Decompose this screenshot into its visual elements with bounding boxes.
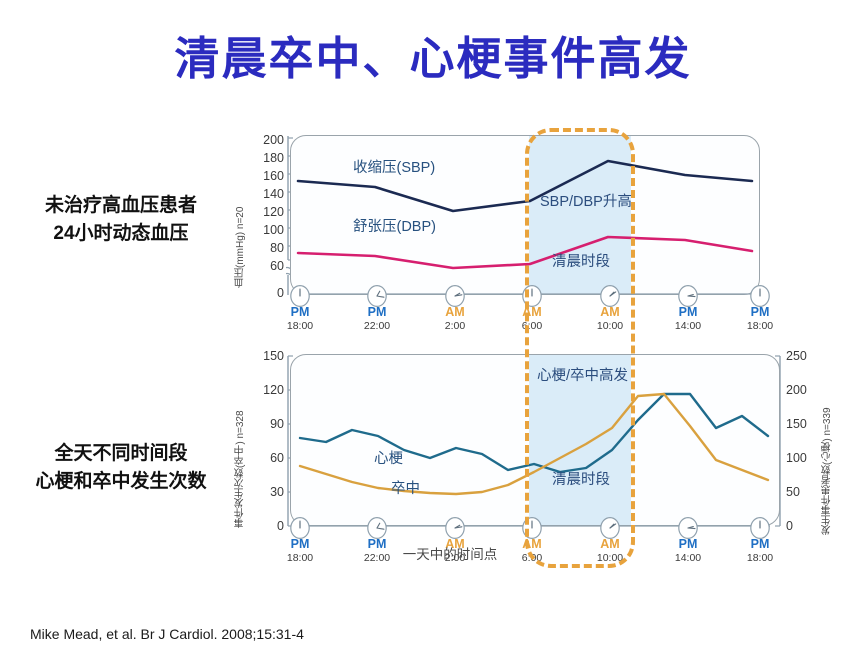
chart-morning-event-counts: 事件发生次数(卒中) n=328 发生事件患者数(心梗) n=339 150 1… <box>0 0 866 600</box>
citation-text: Mike Mead, et al. Br J Cardiol. 2008;15:… <box>30 626 304 642</box>
chart2-series-label-mi: 心梗 <box>374 447 403 468</box>
chart2-annotation-morning-period: 清晨时段 <box>552 468 610 489</box>
xtick-ampm: AM <box>580 538 640 552</box>
xtick-ampm: PM <box>658 538 718 552</box>
chart2-ytick-right-100: 100 <box>786 452 820 465</box>
chart2-ytick-left-150: 150 <box>250 350 284 363</box>
chart2-ytick-left-0: 0 <box>250 520 284 533</box>
chart2-ytick-left-30: 30 <box>250 486 284 499</box>
chart2-yaxis-right-title: 发生事件患者数(心梗) n=339 <box>820 365 835 535</box>
chart2-ytick-left-90: 90 <box>250 418 284 431</box>
chart2-xaxis-caption: 一天中的时间点 <box>330 543 570 563</box>
xtick-ampm: PM <box>730 538 790 552</box>
xtick-2-5: AM10:00 <box>580 538 640 564</box>
chart2-ytick-right-200: 200 <box>786 384 820 397</box>
chart2-ytick-left-120: 120 <box>250 384 284 397</box>
chart2-yaxis-left-title: 事件发生次数(卒中) n=328 <box>233 368 248 528</box>
slide-canvas: 清晨卒中、心梗事件高发 未治疗高血压患者 24小时动态血压 全天不同时间段 心梗… <box>0 0 866 663</box>
xtick-ampm: PM <box>270 538 330 552</box>
chart2-ytick-right-0: 0 <box>786 520 820 533</box>
xtick-2-6: PM14:00 <box>658 538 718 564</box>
chart2-ytick-left-60: 60 <box>250 452 284 465</box>
chart2-series-label-stroke: 卒中 <box>391 477 420 498</box>
xtick-time: 18:00 <box>730 553 790 565</box>
chart2-annotation-high-incidence: 心梗/卒中高发 <box>537 364 628 385</box>
xtick-time: 14:00 <box>658 553 718 565</box>
xtick-2-1: PM18:00 <box>270 538 330 564</box>
chart2-ytick-right-150: 150 <box>786 418 820 431</box>
xtick-time: 10:00 <box>580 553 640 565</box>
xtick-time: 18:00 <box>270 553 330 565</box>
chart2-line-stroke <box>300 394 768 494</box>
xtick-2-7: PM18:00 <box>730 538 790 564</box>
chart2-ytick-right-50: 50 <box>786 486 820 499</box>
chart2-ytick-right-250: 250 <box>786 350 820 363</box>
chart2-series-plot <box>290 354 780 526</box>
chart2-line-myocardial-infarction <box>300 394 768 472</box>
